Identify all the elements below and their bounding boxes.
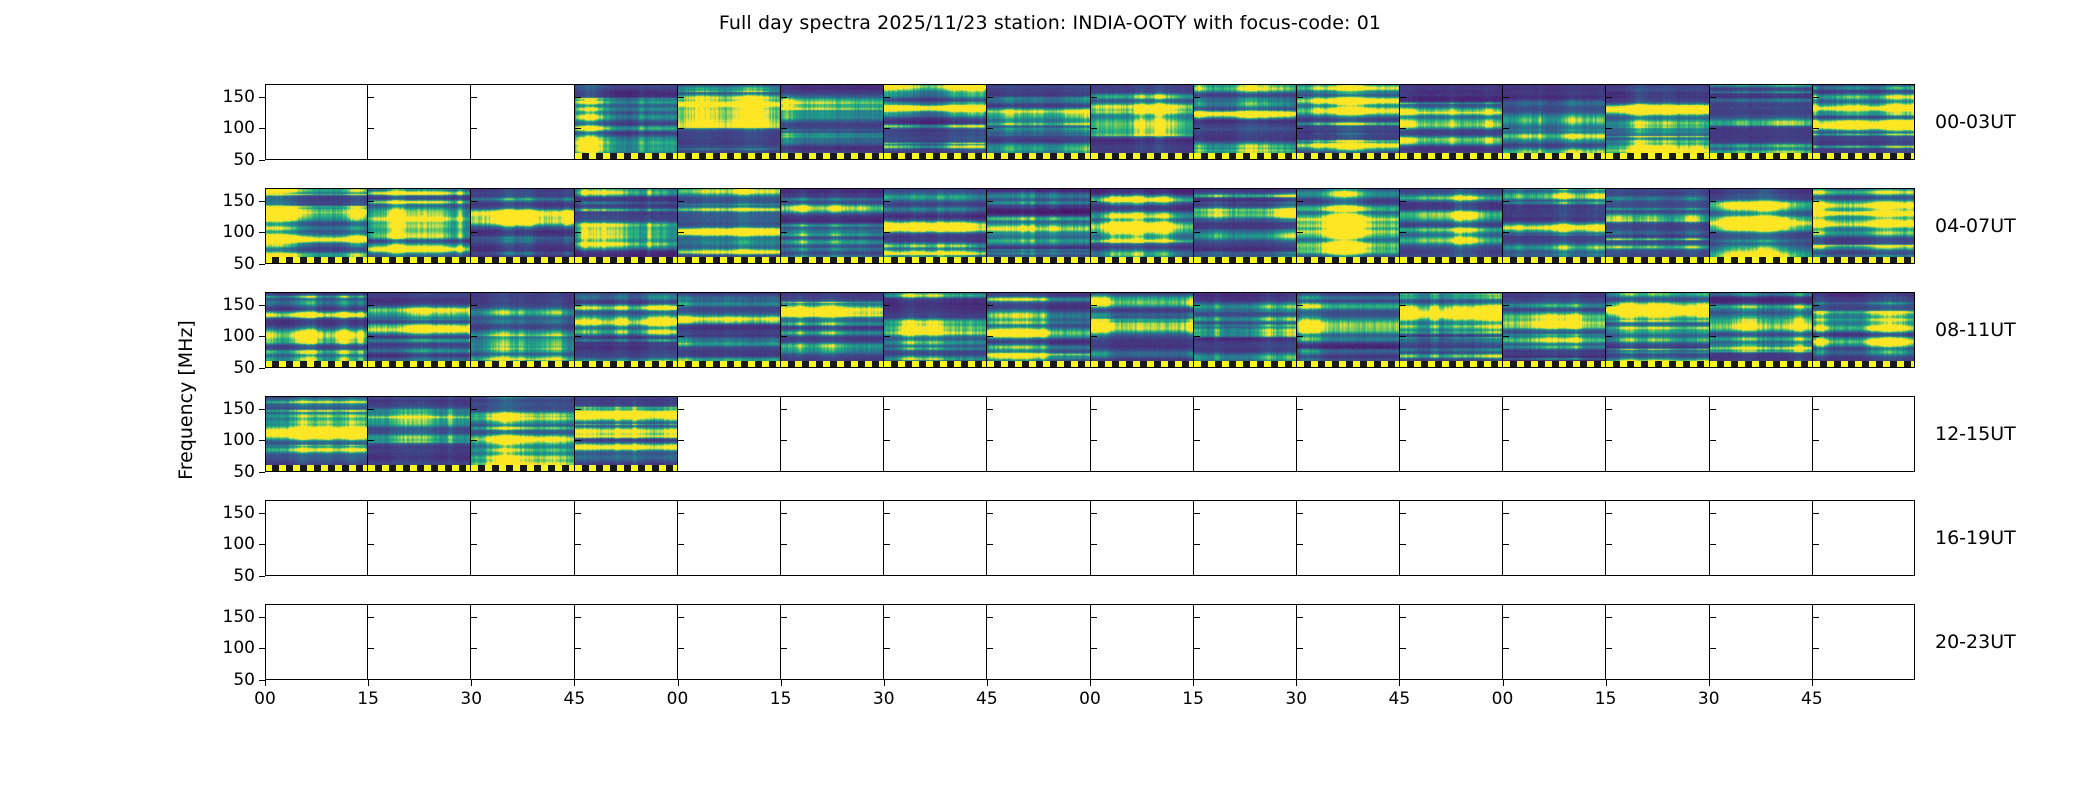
data-present-marker bbox=[781, 361, 883, 368]
spectrogram-panel[interactable] bbox=[1502, 604, 1605, 680]
spectrogram-panel[interactable] bbox=[367, 500, 470, 576]
spectrogram-panel[interactable] bbox=[1193, 604, 1296, 680]
x-tick-label: 00 bbox=[1492, 689, 1514, 709]
spectrogram-panel[interactable] bbox=[574, 292, 677, 368]
spectrogram-panel[interactable] bbox=[1502, 84, 1605, 160]
y-tick-inner bbox=[1710, 128, 1716, 129]
y-tick-label: 50 bbox=[233, 566, 255, 586]
y-tick-label: 50 bbox=[233, 670, 255, 690]
spectrogram-panel[interactable] bbox=[883, 84, 986, 160]
data-present-marker bbox=[781, 257, 883, 264]
y-tick-inner bbox=[1503, 409, 1509, 410]
spectrogram-panel[interactable] bbox=[1090, 188, 1193, 264]
y-tick-inner bbox=[987, 617, 993, 618]
spectrogram-panel[interactable] bbox=[1399, 292, 1502, 368]
data-present-marker bbox=[575, 153, 677, 160]
y-tick-inner bbox=[471, 409, 477, 410]
x-tick-label: 00 bbox=[667, 689, 689, 709]
spectrogram-panel[interactable] bbox=[367, 292, 470, 368]
y-tick-inner bbox=[678, 544, 684, 545]
spectrogram-image bbox=[987, 188, 1089, 264]
y-tick-inner bbox=[471, 336, 477, 337]
spectrogram-panel[interactable] bbox=[1812, 84, 1915, 160]
spectrogram-panel[interactable] bbox=[883, 500, 986, 576]
y-tick-inner bbox=[575, 97, 581, 98]
y-tick-inner bbox=[1297, 513, 1303, 514]
data-present-marker bbox=[368, 361, 470, 368]
spectrogram-panel[interactable] bbox=[1193, 292, 1296, 368]
spectrogram-panel[interactable] bbox=[1812, 188, 1915, 264]
spectrogram-panel[interactable] bbox=[1709, 84, 1812, 160]
spectrogram-panel[interactable] bbox=[574, 500, 677, 576]
y-tick-inner bbox=[368, 648, 374, 649]
spectrogram-panel[interactable] bbox=[1709, 604, 1812, 680]
y-tick-inner bbox=[575, 128, 581, 129]
y-tick-inner bbox=[1503, 440, 1509, 441]
y-tick-inner bbox=[1503, 97, 1509, 98]
y-tick-inner bbox=[1503, 544, 1509, 545]
spectrogram-image bbox=[1091, 292, 1193, 368]
spectrogram-panel[interactable] bbox=[1193, 188, 1296, 264]
y-tick-inner bbox=[1503, 617, 1509, 618]
y-tick-inner bbox=[1606, 232, 1612, 233]
data-present-marker bbox=[1297, 361, 1399, 368]
spectrogram-panel[interactable] bbox=[470, 604, 573, 680]
y-tick-inner bbox=[1606, 201, 1612, 202]
spectrogram-panel[interactable] bbox=[1605, 84, 1708, 160]
spectrogram-image bbox=[1813, 292, 1915, 368]
x-tick bbox=[781, 680, 782, 686]
y-tick-inner bbox=[987, 440, 993, 441]
y-tick-inner bbox=[781, 440, 787, 441]
y-tick-inner bbox=[575, 617, 581, 618]
data-present-marker bbox=[1400, 153, 1502, 160]
y-tick-inner bbox=[1091, 513, 1097, 514]
y-tick-inner bbox=[1710, 544, 1716, 545]
y-tick-inner bbox=[1710, 97, 1716, 98]
spectrogram-panel[interactable] bbox=[1709, 500, 1812, 576]
y-tick-inner bbox=[1400, 648, 1406, 649]
y-tick-inner bbox=[1813, 440, 1819, 441]
spectrogram-panel[interactable] bbox=[883, 188, 986, 264]
data-present-marker bbox=[1710, 361, 1812, 368]
spectrogram-panel[interactable] bbox=[1090, 500, 1193, 576]
spectrogram-panel[interactable] bbox=[1605, 188, 1708, 264]
y-tick-inner bbox=[471, 544, 477, 545]
spectrogram-image bbox=[1091, 84, 1193, 160]
y-tick-inner bbox=[1400, 544, 1406, 545]
y-tick-inner bbox=[678, 409, 684, 410]
spectrogram-panel[interactable] bbox=[1605, 396, 1708, 472]
y-tick-inner bbox=[1606, 513, 1612, 514]
spectrogram-image bbox=[1606, 188, 1708, 264]
spectrogram-row-panels bbox=[265, 604, 1915, 680]
spectrogram-panel[interactable] bbox=[470, 292, 573, 368]
y-tick-inner bbox=[781, 201, 787, 202]
y-tick-inner bbox=[471, 440, 477, 441]
y-tick-inner bbox=[781, 513, 787, 514]
y-tick-inner bbox=[575, 440, 581, 441]
spectrogram-panel[interactable] bbox=[1296, 84, 1399, 160]
y-tick-inner bbox=[1194, 305, 1200, 306]
spectrogram-image bbox=[1400, 84, 1502, 160]
spectrogram-panel[interactable] bbox=[986, 292, 1089, 368]
y-tick-inner bbox=[1503, 201, 1509, 202]
y-tick bbox=[259, 368, 265, 369]
y-tick-inner bbox=[368, 201, 374, 202]
y-tick-inner bbox=[678, 128, 684, 129]
spectrogram-panel[interactable] bbox=[780, 292, 883, 368]
spectrogram-image bbox=[265, 396, 367, 472]
spectrogram-panel[interactable] bbox=[1502, 188, 1605, 264]
y-tick-inner bbox=[1606, 97, 1612, 98]
y-tick-inner bbox=[471, 201, 477, 202]
y-tick-inner bbox=[678, 232, 684, 233]
spectrogram-image bbox=[471, 396, 573, 472]
y-tick-inner bbox=[1400, 128, 1406, 129]
spectrogram-panel[interactable] bbox=[1193, 396, 1296, 472]
spectrogram-panel[interactable] bbox=[1709, 292, 1812, 368]
y-tick-inner bbox=[1813, 128, 1819, 129]
x-tick bbox=[265, 680, 266, 686]
x-tick bbox=[1399, 680, 1400, 686]
spectrogram-panel[interactable] bbox=[1193, 84, 1296, 160]
spectrogram-panel[interactable] bbox=[986, 604, 1089, 680]
y-tick-inner bbox=[987, 201, 993, 202]
spectrogram-panel[interactable] bbox=[677, 84, 780, 160]
y-tick-inner bbox=[1297, 648, 1303, 649]
data-present-marker bbox=[1400, 361, 1502, 368]
spectrogram-panel[interactable] bbox=[367, 84, 470, 160]
y-tick-inner bbox=[1297, 232, 1303, 233]
spectrogram-panel[interactable] bbox=[1090, 84, 1193, 160]
spectrogram-panel[interactable] bbox=[986, 500, 1089, 576]
spectrogram-row-panels bbox=[265, 500, 1915, 576]
y-tick-inner bbox=[471, 128, 477, 129]
spectrogram-panel[interactable] bbox=[574, 84, 677, 160]
y-tick-label: 150 bbox=[223, 503, 255, 523]
y-tick-inner bbox=[1091, 617, 1097, 618]
spectrogram-panel[interactable] bbox=[780, 188, 883, 264]
spectrogram-panel[interactable] bbox=[265, 84, 367, 160]
spectrogram-panel[interactable] bbox=[1296, 396, 1399, 472]
spectrogram-panel[interactable] bbox=[265, 396, 367, 472]
spectrogram-panel[interactable] bbox=[677, 292, 780, 368]
y-tick-inner bbox=[575, 232, 581, 233]
y-tick-label: 50 bbox=[233, 462, 255, 482]
spectrogram-panel[interactable] bbox=[1399, 604, 1502, 680]
spectrogram-panel[interactable] bbox=[986, 84, 1089, 160]
y-tick-inner bbox=[884, 617, 890, 618]
spectrogram-panel[interactable] bbox=[986, 188, 1089, 264]
data-present-marker bbox=[265, 361, 367, 368]
spectrogram-panel[interactable] bbox=[1605, 604, 1708, 680]
spectrogram-panel[interactable] bbox=[1193, 500, 1296, 576]
x-tick bbox=[574, 680, 575, 686]
data-present-marker bbox=[368, 465, 470, 472]
y-tick-inner bbox=[781, 232, 787, 233]
data-present-marker bbox=[1503, 257, 1605, 264]
spectrogram-panel[interactable] bbox=[677, 604, 780, 680]
data-present-marker bbox=[1194, 361, 1296, 368]
spectrogram-image bbox=[471, 292, 573, 368]
data-present-marker bbox=[471, 361, 573, 368]
data-present-marker bbox=[1710, 153, 1812, 160]
spectrogram-panel[interactable] bbox=[574, 604, 677, 680]
y-tick-inner bbox=[678, 305, 684, 306]
spectrogram-image bbox=[1091, 188, 1193, 264]
spectrogram-image bbox=[1503, 84, 1605, 160]
y-tick-inner bbox=[368, 336, 374, 337]
y-tick-inner bbox=[1194, 409, 1200, 410]
spectrogram-panel[interactable] bbox=[1812, 292, 1915, 368]
spectrogram-panel[interactable] bbox=[1090, 604, 1193, 680]
spectrogram-image bbox=[575, 292, 677, 368]
y-tick bbox=[259, 264, 265, 265]
y-tick-inner bbox=[1091, 305, 1097, 306]
y-tick-label: 100 bbox=[223, 430, 255, 450]
spectrogram-panel[interactable] bbox=[1709, 188, 1812, 264]
x-tick bbox=[884, 680, 885, 686]
spectrogram-panel[interactable] bbox=[677, 500, 780, 576]
spectrogram-image bbox=[575, 84, 677, 160]
spectrogram-panel[interactable] bbox=[1296, 604, 1399, 680]
spectrogram-panel[interactable] bbox=[574, 396, 677, 472]
y-tick-inner bbox=[1710, 617, 1716, 618]
spectrogram-panel[interactable] bbox=[780, 396, 883, 472]
spectrogram-panel[interactable] bbox=[1296, 292, 1399, 368]
spectrogram-image bbox=[1194, 188, 1296, 264]
spectrogram-image bbox=[575, 188, 677, 264]
y-tick-inner bbox=[1606, 544, 1612, 545]
data-present-marker bbox=[1813, 257, 1915, 264]
y-tick-inner bbox=[1297, 409, 1303, 410]
spectrogram-panel[interactable] bbox=[470, 396, 573, 472]
y-tick-inner bbox=[678, 648, 684, 649]
spectrogram-panel[interactable] bbox=[265, 604, 367, 680]
y-tick-inner bbox=[1400, 513, 1406, 514]
y-tick-inner bbox=[471, 97, 477, 98]
y-tick-inner bbox=[1194, 232, 1200, 233]
spectrogram-panel[interactable] bbox=[1502, 396, 1605, 472]
spectrogram-panel[interactable] bbox=[1090, 396, 1193, 472]
spectrogram-panel[interactable] bbox=[367, 396, 470, 472]
page-title: Full day spectra 2025/11/23 station: IND… bbox=[0, 12, 2100, 34]
row-time-label: 00-03UT bbox=[1935, 111, 2016, 133]
row-time-label: 04-07UT bbox=[1935, 215, 2016, 237]
spectrogram-panel[interactable] bbox=[1090, 292, 1193, 368]
spectrogram-image bbox=[781, 292, 883, 368]
spectrogram-figure: Full day spectra 2025/11/23 station: IND… bbox=[0, 0, 2100, 800]
spectrogram-panel[interactable] bbox=[1812, 500, 1915, 576]
y-tick-inner bbox=[678, 440, 684, 441]
spectrogram-image bbox=[884, 292, 986, 368]
spectrogram-panel[interactable] bbox=[1399, 396, 1502, 472]
y-tick-inner bbox=[1091, 128, 1097, 129]
data-present-marker bbox=[1297, 257, 1399, 264]
spectrogram-panel[interactable] bbox=[1605, 292, 1708, 368]
spectrogram-panel[interactable] bbox=[1812, 604, 1915, 680]
y-tick bbox=[259, 472, 265, 473]
spectrogram-panel[interactable] bbox=[1296, 188, 1399, 264]
y-tick-inner bbox=[471, 617, 477, 618]
row-time-label: 20-23UT bbox=[1935, 631, 2016, 653]
y-tick-inner bbox=[575, 201, 581, 202]
spectrogram-panel[interactable] bbox=[986, 396, 1089, 472]
spectrogram-panel[interactable] bbox=[574, 188, 677, 264]
spectrogram-panel[interactable] bbox=[367, 604, 470, 680]
spectrogram-image bbox=[1503, 188, 1605, 264]
spectrogram-panel[interactable] bbox=[265, 500, 367, 576]
data-present-marker bbox=[987, 257, 1089, 264]
spectrogram-image bbox=[1503, 292, 1605, 368]
spectrogram-panel[interactable] bbox=[265, 188, 367, 264]
y-tick-inner bbox=[884, 128, 890, 129]
y-tick-label: 150 bbox=[223, 191, 255, 211]
y-tick-inner bbox=[1297, 544, 1303, 545]
y-tick bbox=[259, 97, 265, 98]
y-tick-inner bbox=[1503, 305, 1509, 306]
y-tick-inner bbox=[575, 544, 581, 545]
y-tick-inner bbox=[1503, 232, 1509, 233]
y-tick-inner bbox=[1091, 648, 1097, 649]
spectrogram-image bbox=[1400, 292, 1502, 368]
x-tick-label: 30 bbox=[1698, 689, 1720, 709]
x-tick-label: 30 bbox=[1285, 689, 1307, 709]
y-tick-inner bbox=[1194, 544, 1200, 545]
y-tick-inner bbox=[884, 232, 890, 233]
spectrogram-image bbox=[1813, 188, 1915, 264]
spectrogram-panel[interactable] bbox=[265, 292, 367, 368]
y-tick-label: 100 bbox=[223, 638, 255, 658]
y-tick-inner bbox=[678, 97, 684, 98]
y-tick bbox=[259, 201, 265, 202]
spectrogram-panel[interactable] bbox=[780, 604, 883, 680]
spectrogram-image bbox=[265, 188, 367, 264]
spectrogram-panel[interactable] bbox=[1399, 188, 1502, 264]
spectrogram-panel[interactable] bbox=[1502, 292, 1605, 368]
x-tick-label: 30 bbox=[460, 689, 482, 709]
data-present-marker bbox=[1813, 361, 1915, 368]
spectrogram-image bbox=[368, 396, 470, 472]
data-present-marker bbox=[1503, 361, 1605, 368]
spectrogram-panel[interactable] bbox=[780, 500, 883, 576]
spectrogram-image bbox=[884, 188, 986, 264]
y-tick-inner bbox=[1297, 201, 1303, 202]
y-tick-inner bbox=[781, 305, 787, 306]
spectrogram-panel[interactable] bbox=[677, 188, 780, 264]
spectrogram-image bbox=[1606, 84, 1708, 160]
data-present-marker bbox=[265, 465, 367, 472]
spectrogram-panel[interactable] bbox=[1399, 500, 1502, 576]
x-tick-label: 45 bbox=[976, 689, 998, 709]
y-tick-inner bbox=[884, 513, 890, 514]
y-tick-inner bbox=[1813, 544, 1819, 545]
y-tick-inner bbox=[781, 617, 787, 618]
y-tick-inner bbox=[368, 440, 374, 441]
spectrogram-image bbox=[781, 188, 883, 264]
spectrogram-row-panels bbox=[265, 188, 1915, 264]
spectrogram-panel[interactable] bbox=[1709, 396, 1812, 472]
y-tick-inner bbox=[1297, 336, 1303, 337]
y-tick-inner bbox=[471, 513, 477, 514]
spectrogram-panel[interactable] bbox=[367, 188, 470, 264]
y-tick bbox=[259, 160, 265, 161]
y-tick-inner bbox=[1194, 617, 1200, 618]
y-tick-inner bbox=[1091, 232, 1097, 233]
y-tick-inner bbox=[1400, 232, 1406, 233]
y-tick-inner bbox=[1400, 440, 1406, 441]
data-present-marker bbox=[1813, 153, 1915, 160]
spectrogram-panel[interactable] bbox=[470, 84, 573, 160]
y-tick-inner bbox=[1194, 513, 1200, 514]
y-tick-inner bbox=[987, 513, 993, 514]
y-tick-inner bbox=[1606, 128, 1612, 129]
spectrogram-panel[interactable] bbox=[1605, 500, 1708, 576]
y-tick-inner bbox=[1400, 617, 1406, 618]
y-tick-inner bbox=[1813, 617, 1819, 618]
spectrogram-image bbox=[678, 84, 780, 160]
spectrogram-panel[interactable] bbox=[470, 188, 573, 264]
y-tick-inner bbox=[368, 97, 374, 98]
y-tick-inner bbox=[987, 97, 993, 98]
spectrogram-panel[interactable] bbox=[883, 604, 986, 680]
x-tick bbox=[1296, 680, 1297, 686]
spectrogram-panel[interactable] bbox=[1296, 500, 1399, 576]
y-tick-inner bbox=[1813, 648, 1819, 649]
spectrogram-panel[interactable] bbox=[883, 292, 986, 368]
y-tick-inner bbox=[1710, 440, 1716, 441]
spectrogram-panel[interactable] bbox=[1502, 500, 1605, 576]
y-tick-inner bbox=[1400, 336, 1406, 337]
y-tick-label: 150 bbox=[223, 295, 255, 315]
spectrogram-panel[interactable] bbox=[470, 500, 573, 576]
y-tick-inner bbox=[1194, 648, 1200, 649]
spectrogram-panel[interactable] bbox=[780, 84, 883, 160]
y-tick-inner bbox=[1194, 336, 1200, 337]
y-tick-inner bbox=[1400, 409, 1406, 410]
spectrogram-image bbox=[575, 396, 677, 472]
y-tick-inner bbox=[575, 648, 581, 649]
spectrogram-image bbox=[1606, 292, 1708, 368]
spectrogram-panel[interactable] bbox=[1812, 396, 1915, 472]
y-tick-inner bbox=[1194, 440, 1200, 441]
data-present-marker bbox=[1606, 257, 1708, 264]
y-tick-inner bbox=[1297, 440, 1303, 441]
spectrogram-image bbox=[1400, 188, 1502, 264]
y-tick-label: 50 bbox=[233, 358, 255, 378]
y-tick-inner bbox=[575, 336, 581, 337]
y-tick bbox=[259, 305, 265, 306]
y-tick bbox=[259, 409, 265, 410]
spectrogram-row: 5010015000-03UT bbox=[265, 84, 1915, 160]
spectrogram-image bbox=[471, 188, 573, 264]
y-tick-inner bbox=[1194, 97, 1200, 98]
spectrogram-panel[interactable] bbox=[1399, 84, 1502, 160]
y-tick-inner bbox=[987, 336, 993, 337]
spectrogram-panel[interactable] bbox=[677, 396, 780, 472]
y-tick-inner bbox=[1710, 305, 1716, 306]
data-present-marker bbox=[884, 361, 986, 368]
spectrogram-panel[interactable] bbox=[883, 396, 986, 472]
y-tick-label: 150 bbox=[223, 399, 255, 419]
data-present-marker bbox=[884, 257, 986, 264]
y-tick-inner bbox=[1813, 201, 1819, 202]
spectrogram-image bbox=[1710, 292, 1812, 368]
x-tick-label: 15 bbox=[357, 689, 379, 709]
y-tick-inner bbox=[1091, 336, 1097, 337]
x-tick bbox=[471, 680, 472, 686]
